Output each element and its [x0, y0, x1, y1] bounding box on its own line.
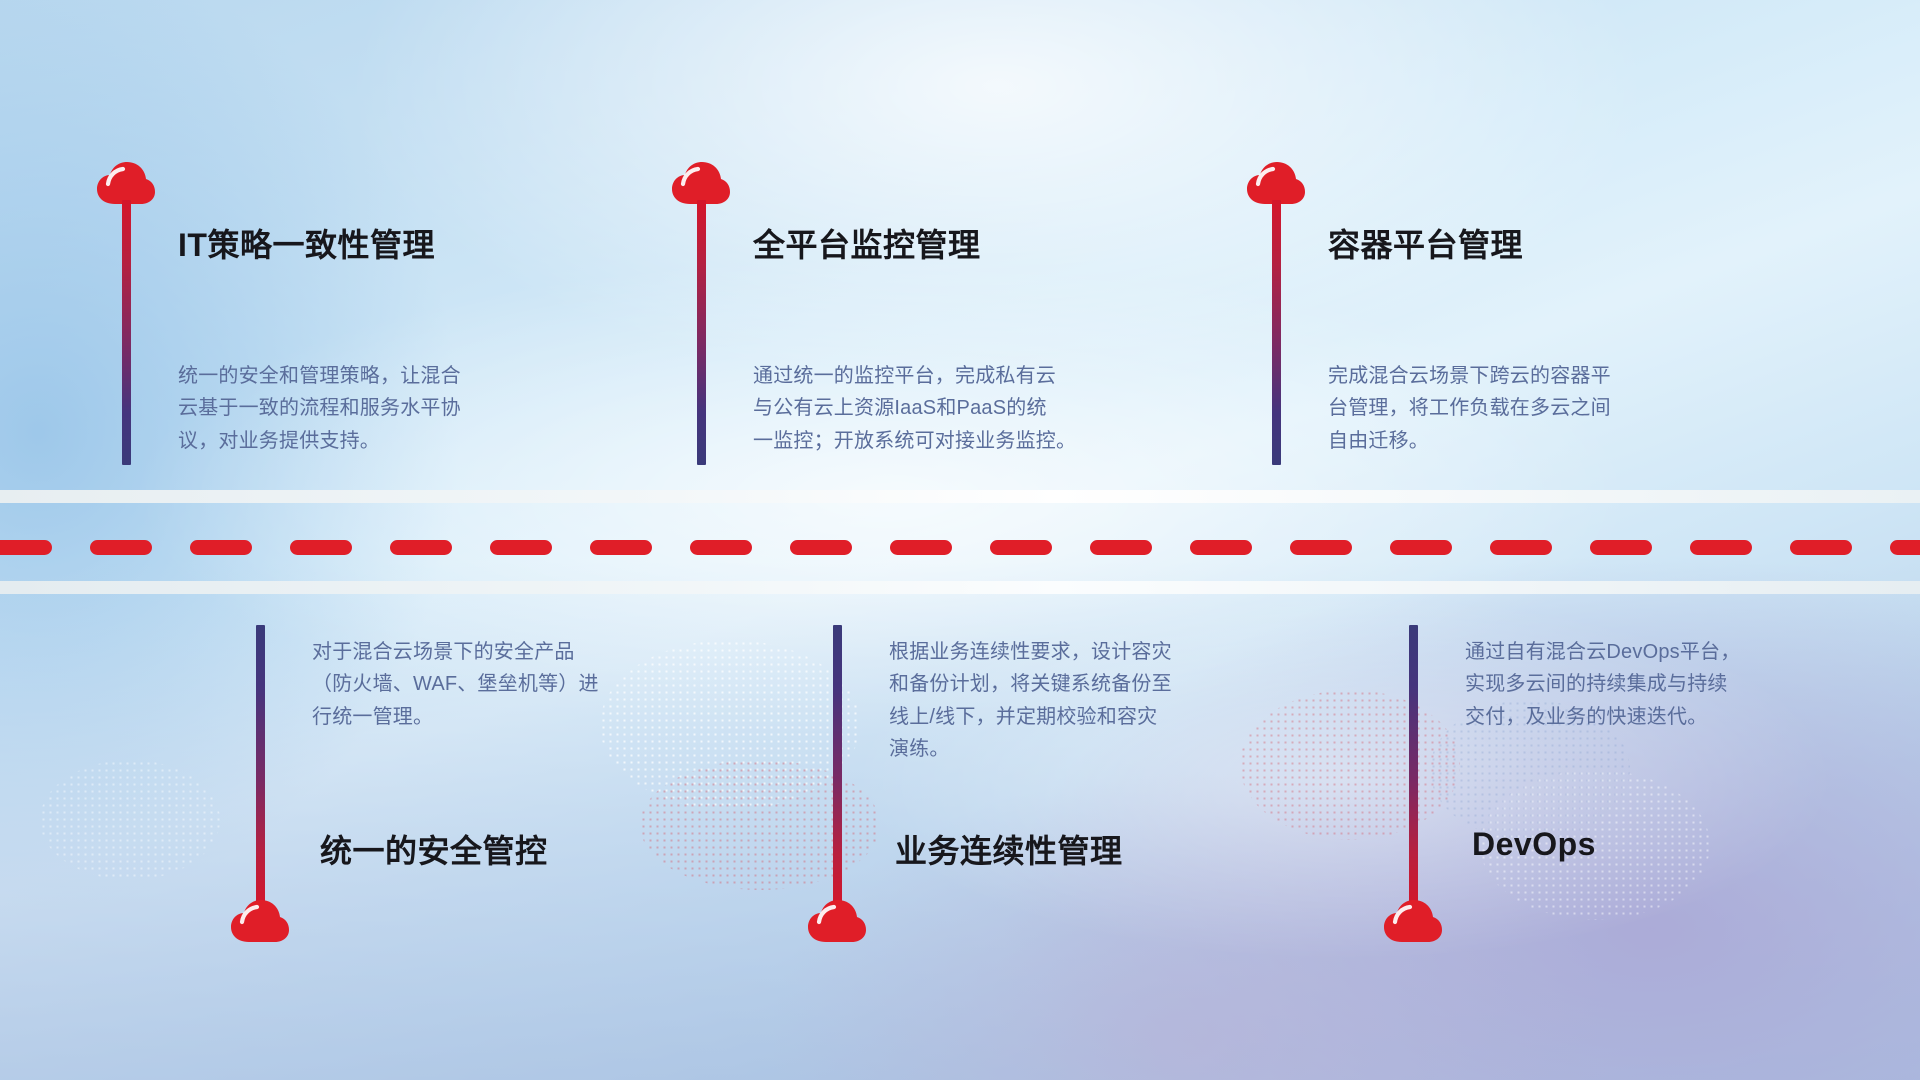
timeline-pin	[1409, 625, 1418, 910]
item-title: DevOps	[1472, 826, 1596, 863]
description-line: 线上/线下，并定期校验和容灾	[889, 701, 1172, 733]
divider-dash-segment	[1090, 540, 1152, 555]
description-line: 完成混合云场景下跨云的容器平	[1328, 360, 1611, 392]
description-line: 一监控；开放系统可对接业务监控。	[753, 425, 1076, 457]
item-title: 业务连续性管理	[895, 826, 1123, 872]
timeline-pin	[833, 625, 842, 910]
background-dot-texture-red-right	[1240, 690, 1460, 840]
item-description: 根据业务连续性要求，设计容灾 和备份计划，将关键系统备份至 线上/线下，并定期校…	[889, 636, 1172, 766]
divider-dash-segment	[1490, 540, 1552, 555]
divider-dash-segment	[1290, 540, 1352, 555]
divider-dashed-line	[0, 540, 1920, 555]
description-line: 根据业务连续性要求，设计容灾	[889, 636, 1172, 668]
item-description: 通过自有混合云DevOps平台， 实现多云间的持续集成与持续 交付，及业务的快速…	[1465, 636, 1740, 733]
item-title: 容器平台管理	[1328, 220, 1523, 266]
description-line: 云基于一致的流程和服务水平协	[178, 392, 461, 424]
timeline-pin	[122, 200, 131, 465]
divider-dash-segment	[290, 540, 352, 555]
cloud-icon	[229, 898, 291, 944]
timeline-pin	[697, 200, 706, 465]
cloud-icon	[1382, 898, 1444, 944]
description-line: 行统一管理。	[312, 701, 599, 733]
item-title: 全平台监控管理	[753, 220, 981, 266]
divider-dash-segment	[190, 540, 252, 555]
description-line: 对于混合云场景下的安全产品	[312, 636, 599, 668]
divider-dash-segment	[390, 540, 452, 555]
background-dot-texture-bottom-left	[40, 760, 220, 880]
divider-dash-segment	[590, 540, 652, 555]
description-line: 自由迁移。	[1328, 425, 1611, 457]
divider-dash-segment	[1890, 540, 1920, 555]
item-description: 通过统一的监控平台，完成私有云 与公有云上资源IaaS和PaaS的统 一监控；开…	[753, 360, 1076, 457]
divider-dash-segment	[90, 540, 152, 555]
divider-dash-segment	[1590, 540, 1652, 555]
divider-bar-lower	[0, 581, 1920, 594]
item-title: 统一的安全管控	[320, 826, 548, 872]
description-line: 与公有云上资源IaaS和PaaS的统	[753, 392, 1076, 424]
divider-bar-upper	[0, 490, 1920, 503]
description-line: 实现多云间的持续集成与持续	[1465, 668, 1740, 700]
item-description: 完成混合云场景下跨云的容器平 台管理，将工作负载在多云之间 自由迁移。	[1328, 360, 1611, 457]
description-line: 演练。	[889, 733, 1172, 765]
divider-dash-segment	[790, 540, 852, 555]
description-line: 台管理，将工作负载在多云之间	[1328, 392, 1611, 424]
description-line: 交付，及业务的快速迭代。	[1465, 701, 1740, 733]
description-line: 通过自有混合云DevOps平台，	[1465, 636, 1740, 668]
description-line: （防火墙、WAF、堡垒机等）进	[312, 668, 599, 700]
divider-dash-segment	[690, 540, 752, 555]
divider-dash-segment	[1390, 540, 1452, 555]
timeline-pin	[1272, 200, 1281, 465]
divider-dash-segment	[1190, 540, 1252, 555]
divider-dash-segment	[1790, 540, 1852, 555]
divider-dash-segment	[490, 540, 552, 555]
item-title: IT策略一致性管理	[178, 220, 435, 266]
background-dot-texture-red	[640, 760, 880, 890]
divider-dash-segment	[990, 540, 1052, 555]
divider-dash-segment	[0, 540, 52, 555]
description-line: 议，对业务提供支持。	[178, 425, 461, 457]
divider-dash-segment	[1690, 540, 1752, 555]
timeline-pin	[256, 625, 265, 910]
description-line: 通过统一的监控平台，完成私有云	[753, 360, 1076, 392]
infographic-canvas: IT策略一致性管理 统一的安全和管理策略，让混合 云基于一致的流程和服务水平协 …	[0, 0, 1920, 1080]
item-description: 对于混合云场景下的安全产品 （防火墙、WAF、堡垒机等）进 行统一管理。	[312, 636, 599, 733]
description-line: 和备份计划，将关键系统备份至	[889, 668, 1172, 700]
description-line: 统一的安全和管理策略，让混合	[178, 360, 461, 392]
item-description: 统一的安全和管理策略，让混合 云基于一致的流程和服务水平协 议，对业务提供支持。	[178, 360, 461, 457]
divider-dash-segment	[890, 540, 952, 555]
cloud-icon	[806, 898, 868, 944]
